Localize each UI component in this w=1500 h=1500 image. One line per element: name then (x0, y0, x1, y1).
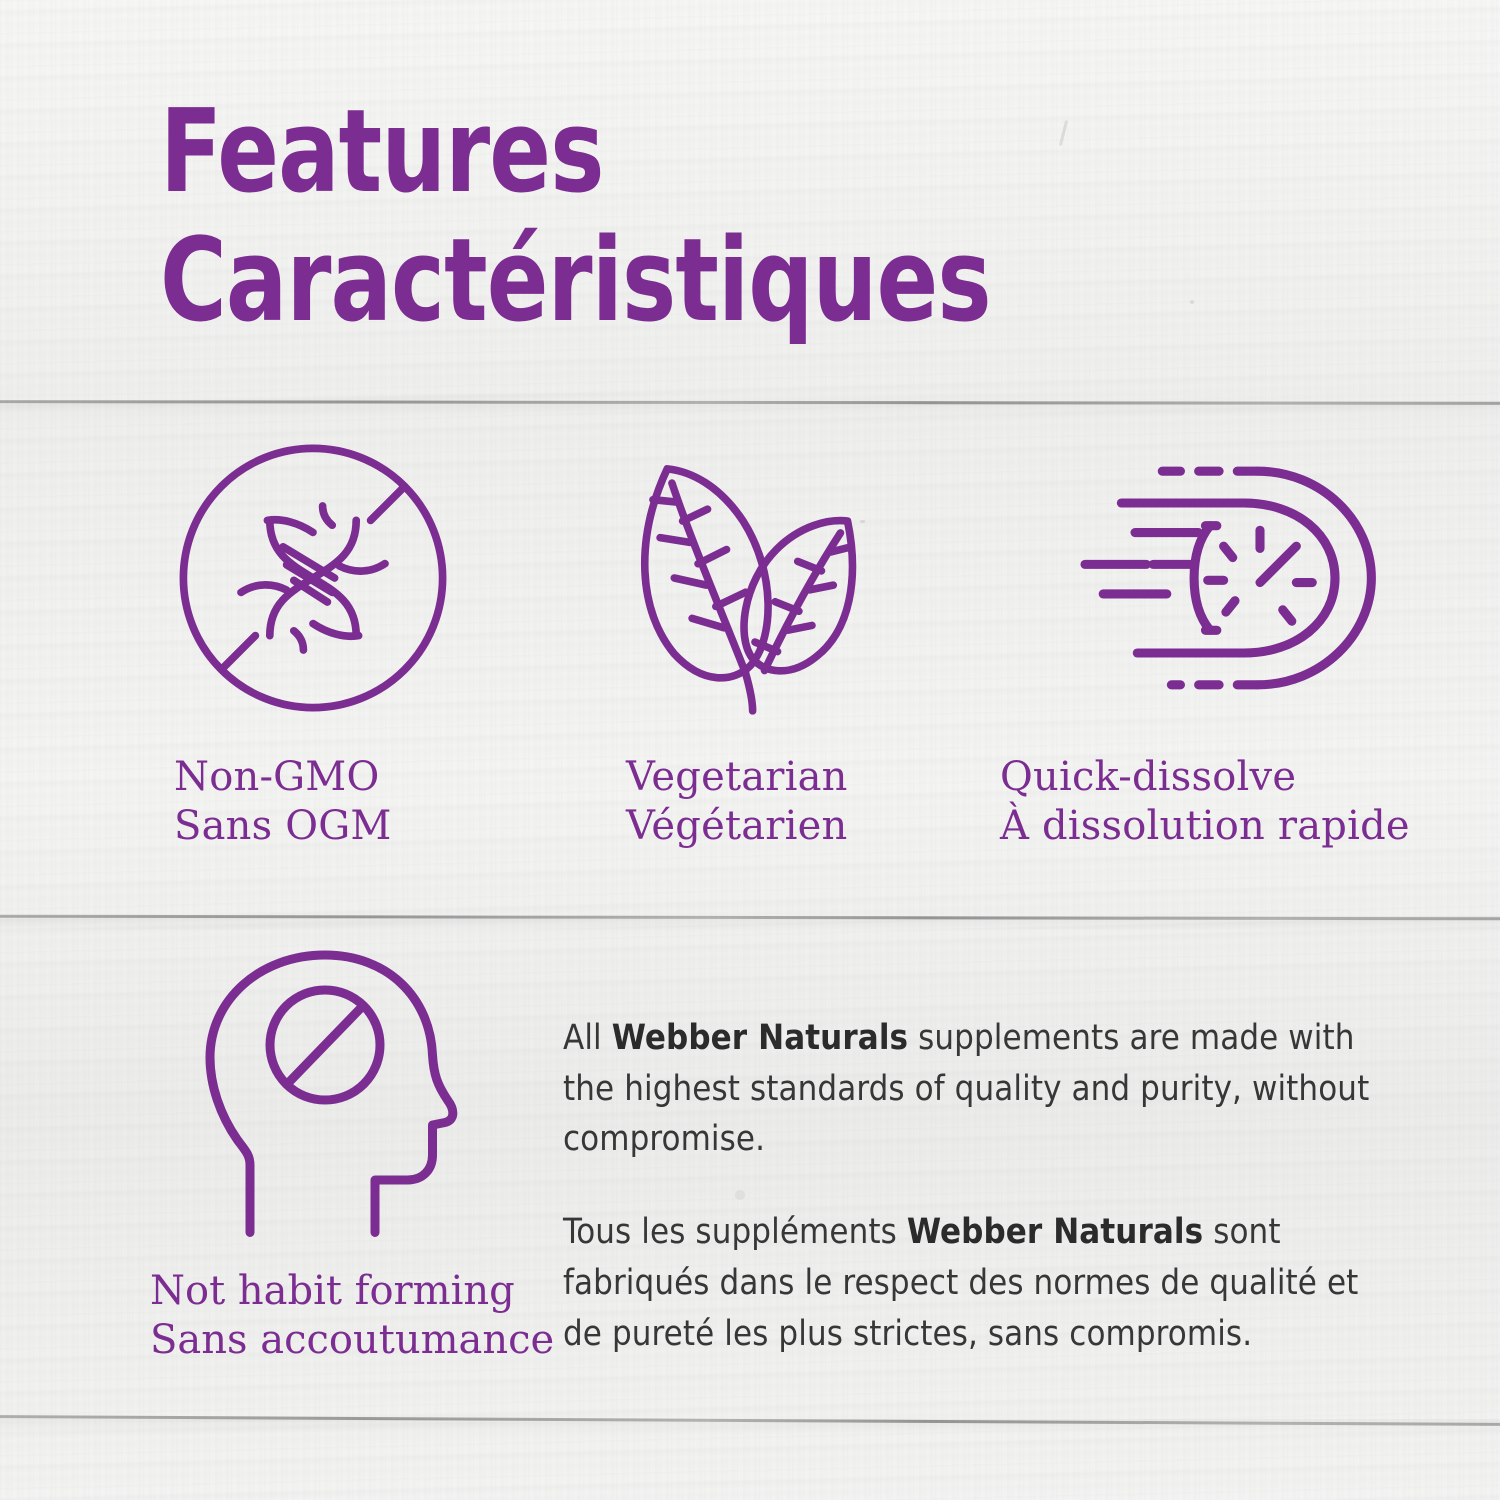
brand-copy-english: All Webber Naturals supplements are made… (563, 1013, 1373, 1165)
feature-label-fr: À dissolution rapide (1000, 803, 1410, 849)
feature-item-quick-dissolve: Quick-dissolve À dissolution rapide (1000, 430, 1470, 851)
feature-label-quick-dissolve: Quick-dissolve À dissolution rapide (1000, 753, 1470, 851)
feature-item-not-habit-forming: Not habit forming Sans accoutumance (150, 945, 550, 1365)
brand-copy-french: Tous les suppléments Webber Naturals son… (563, 1207, 1373, 1359)
feature-item-non-gmo: Non-GMO Sans OGM (148, 430, 478, 851)
feature-item-vegetarian: Vegetarian Végétarien (590, 430, 920, 851)
feature-label-non-gmo: Non-GMO Sans OGM (148, 753, 478, 851)
brand-copy: All Webber Naturals supplements are made… (563, 1013, 1373, 1401)
wood-knot-speck (1190, 300, 1194, 304)
leaves-icon (615, 430, 895, 725)
title-line-english: Features (160, 96, 1040, 209)
feature-label-fr: Végétarien (626, 803, 847, 849)
feature-row: Non-GMO Sans OGM (0, 430, 1500, 900)
title-line-french: Caractéristiques (160, 225, 1040, 338)
feature-label-not-habit-forming: Not habit forming Sans accoutumance (150, 1267, 550, 1365)
feature-label-fr: Sans OGM (174, 803, 392, 849)
wood-grain-plank-4 (0, 1422, 1500, 1500)
bottom-section: Not habit forming Sans accoutumance All … (0, 945, 1500, 1415)
quick-dissolve-speed-clock-icon (1080, 430, 1390, 725)
feature-label-en: Not habit forming (150, 1268, 515, 1314)
feature-label-fr: Sans accoutumance (150, 1317, 554, 1363)
feature-label-en: Non-GMO (174, 754, 379, 800)
feature-label-en: Vegetarian (626, 754, 848, 800)
infographic-canvas: Features Caractéristiques (0, 0, 1500, 1500)
copy-en-brand: Webber Naturals (612, 1018, 908, 1058)
copy-fr-brand: Webber Naturals (907, 1212, 1203, 1252)
copy-fr-before: Tous les suppléments (563, 1212, 907, 1252)
page-title: Features Caractéristiques (160, 96, 1160, 337)
no-gmo-dna-icon (169, 430, 457, 725)
feature-label-vegetarian: Vegetarian Végétarien (590, 753, 920, 851)
copy-en-before: All (563, 1018, 612, 1058)
head-no-habit-icon (150, 945, 550, 1245)
feature-label-en: Quick-dissolve (1000, 754, 1296, 800)
